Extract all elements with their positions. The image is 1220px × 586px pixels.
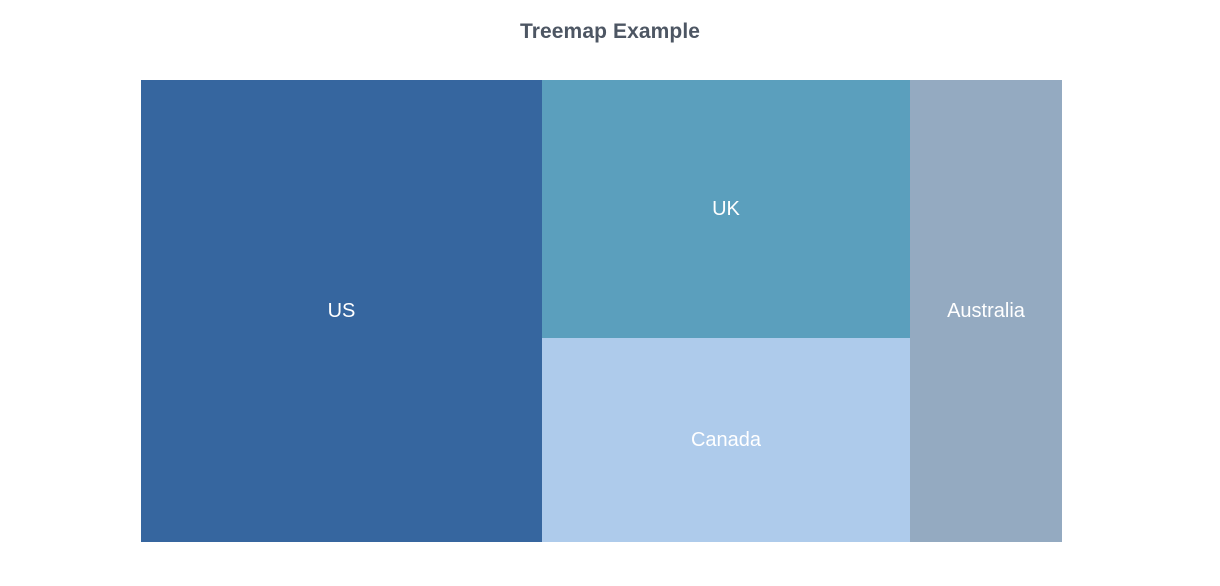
chart-title: Treemap Example [0,20,1220,44]
treemap-tile-australia[interactable]: Australia [910,80,1062,542]
treemap-tile-label: UK [712,199,740,219]
treemap-plot-area: US UK Canada Australia [141,80,1062,542]
treemap-tile-us[interactable]: US [141,80,542,542]
treemap-tile-uk[interactable]: UK [542,80,910,338]
treemap-tile-canada[interactable]: Canada [542,338,910,542]
treemap-tile-label: Canada [691,430,761,450]
treemap-tile-label: US [328,301,356,321]
treemap-tile-label: Australia [947,301,1025,321]
treemap-figure: Treemap Example US UK Canada Australia [0,0,1220,586]
